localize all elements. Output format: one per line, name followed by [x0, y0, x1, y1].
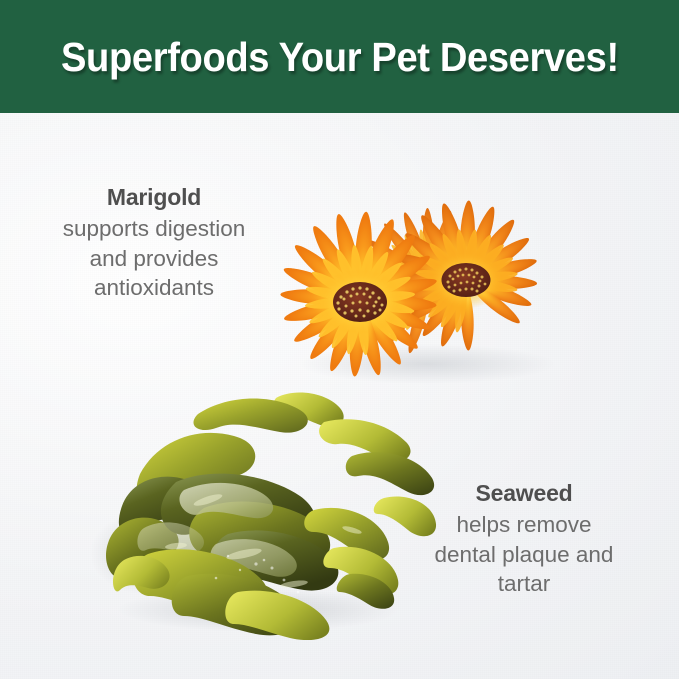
seaweed-kelp-photo [88, 378, 444, 640]
marigold-flowers-photo [252, 182, 582, 387]
marigold-line-3: antioxidants [28, 273, 280, 303]
header-banner: Superfoods Your Pet Deserves! [0, 0, 679, 113]
seaweed-heading: Seaweed [398, 478, 650, 509]
seaweed-line-1: helps remove [398, 510, 650, 540]
marigold-heading: Marigold [28, 182, 280, 213]
marigold-line-1: supports digestion [28, 214, 280, 244]
infographic-poster: Superfoods Your Pet Deserves! Marigold s… [0, 0, 679, 679]
seaweed-line-3: tartar [398, 569, 650, 599]
marigold-caption-block: Marigold supports digestion and provides… [28, 182, 280, 303]
page-title: Superfoods Your Pet Deserves! [61, 37, 619, 78]
seaweed-line-2: dental plaque and [398, 540, 650, 570]
seaweed-caption-block: Seaweed helps remove dental plaque and t… [398, 478, 650, 599]
marigold-line-2: and provides [28, 244, 280, 274]
